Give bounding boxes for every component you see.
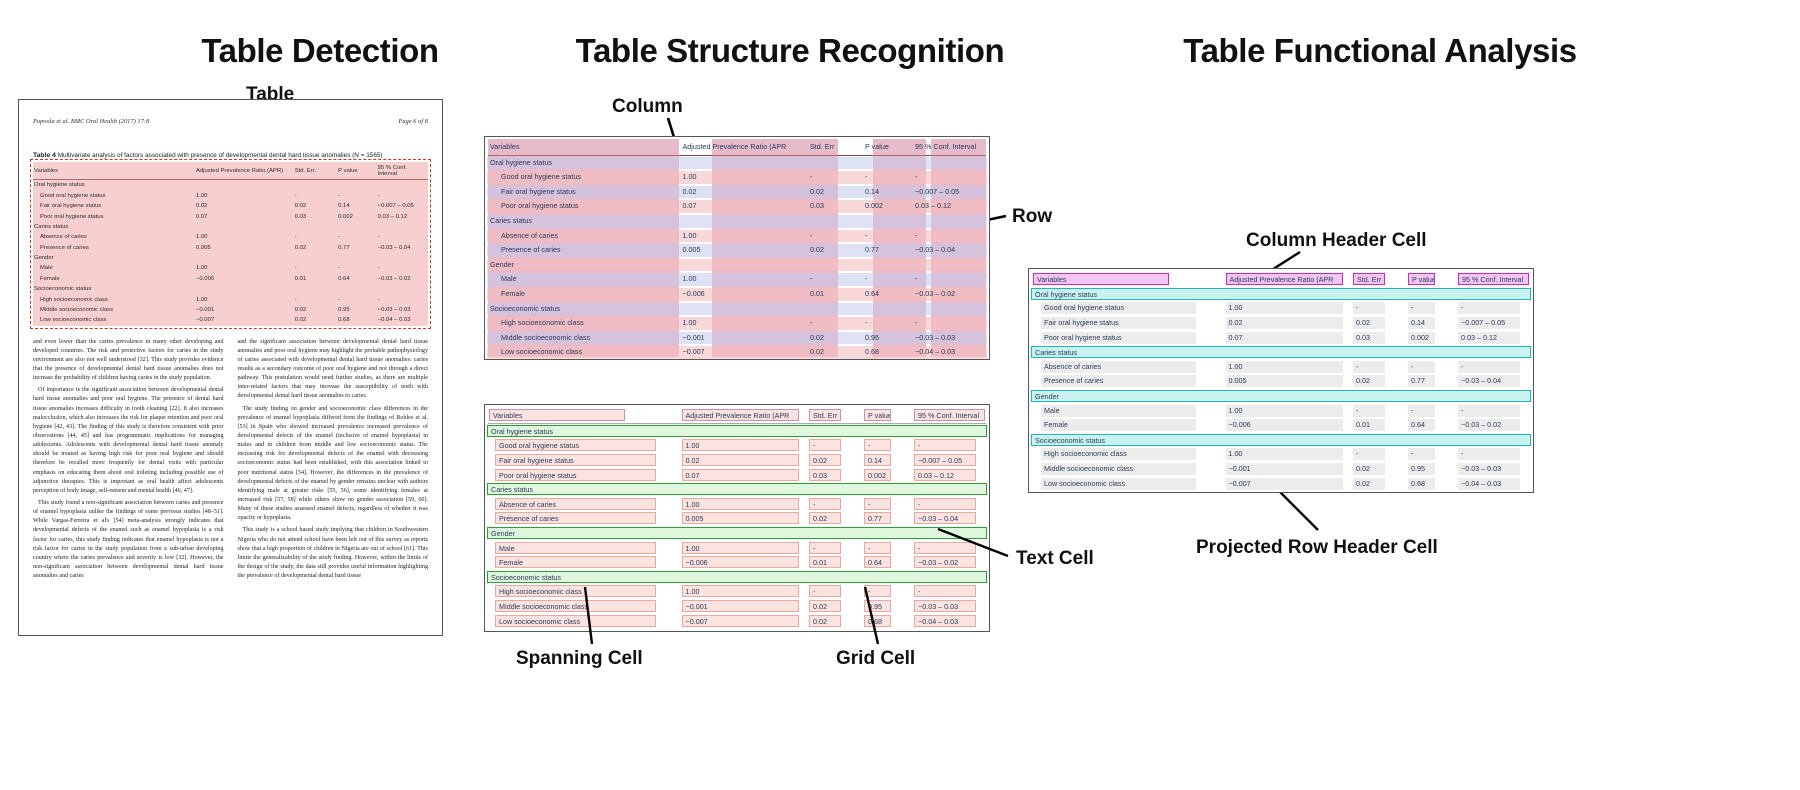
- table-cell: −0.007: [195, 315, 294, 325]
- grid-cell-wrap: 0.68: [862, 615, 912, 627]
- table-section-row: Caries status: [487, 482, 987, 497]
- column-header-cell-wrap: Std. Err: [1351, 273, 1406, 285]
- table-cell: −0.03 – 0.02: [912, 287, 987, 302]
- grid-cell-wrap: Middle socioeconomic class: [487, 600, 680, 612]
- table-cell: -: [1408, 361, 1435, 373]
- paragraph: Of importance is the significant associa…: [33, 386, 224, 496]
- table-row: Presence of caries0.0050.020.77−0.03 – 0…: [487, 243, 987, 258]
- table-cell-wrap: 0.02: [1351, 317, 1406, 329]
- row-header-cell: Male: [487, 272, 680, 287]
- column-header-cell: 95 % Conf. Interval: [914, 409, 985, 421]
- table-cell: 0.03 – 0.12: [1458, 332, 1520, 344]
- table-row: Low socioeconomic class−0.0070.020.68−0.…: [487, 613, 987, 628]
- table-row: Good oral hygiene status1.00---: [1031, 301, 1531, 316]
- grid-cell: 0.07: [682, 469, 799, 481]
- grid-cell: 1.00: [682, 439, 799, 451]
- table-cell: -: [1408, 448, 1435, 460]
- grid-cell-wrap: 0.02: [680, 454, 808, 466]
- column-header-cell: P value: [1408, 273, 1435, 285]
- table-cell: −0.03 – 0.02: [377, 274, 428, 284]
- table-section-row: Socioeconomic status: [487, 302, 987, 317]
- table-cell: 0.005: [195, 243, 294, 253]
- table-cell-wrap: −0.03 – 0.02: [1456, 419, 1531, 431]
- column-header-cell-wrap: 95 % Conf. Interval: [1456, 273, 1531, 285]
- grid-cell: -: [914, 542, 976, 554]
- text-cell: Low socioeconomic class: [495, 615, 656, 627]
- row-header-cell: Absence of caries: [33, 232, 195, 242]
- table-cell: -: [862, 272, 912, 287]
- grid-cell-wrap: −0.04 – 0.03: [912, 615, 987, 627]
- projected-row-header-cell: Oral hygiene status: [1031, 288, 1531, 300]
- grid-cell: −0.04 – 0.03: [914, 615, 976, 627]
- grid-cell-wrap: 0.02: [807, 454, 862, 466]
- callout-projected-row-header-cell: Projected Row Header Cell: [1196, 537, 1438, 559]
- running-head-right: Page 6 of 8: [399, 118, 428, 125]
- table-cell: 0.02: [195, 201, 294, 211]
- column-header-cell: Variables: [489, 409, 625, 421]
- grid-cell-wrap: -: [912, 542, 987, 554]
- table-cell: -: [807, 316, 862, 331]
- row-header-cell: Presence of caries: [33, 243, 195, 253]
- column-header-cell: Std. Err: [807, 140, 862, 155]
- table-cell: [337, 253, 377, 263]
- row-header-cell: Oral hygiene status: [33, 180, 195, 191]
- grid-cell: -: [914, 585, 976, 597]
- table-cell-wrap: -: [1456, 302, 1531, 314]
- row-header-cell-wrap: Good oral hygiene status: [1031, 302, 1224, 314]
- table-cell: −0.001: [680, 331, 808, 346]
- table-cell: −0.006: [195, 274, 294, 284]
- table-cell: 0.02: [807, 331, 862, 346]
- row-header-cell: Gender: [487, 258, 680, 273]
- column-header-cell: P value: [862, 140, 912, 155]
- table-cell: −0.03 – 0.04: [377, 243, 428, 253]
- row-header-cell: Presence of caries: [1041, 375, 1196, 387]
- table-cell-wrap: 0.68: [1406, 478, 1456, 490]
- grid-cell-wrap: −0.03 – 0.03: [912, 600, 987, 612]
- table-cell-wrap: 0.64: [1406, 419, 1456, 431]
- row-header-cell-wrap: Middle socioeconomic class: [1031, 463, 1224, 475]
- grid-cell: 0.005: [682, 512, 799, 524]
- table-row: Fair oral hygiene status0.020.020.14−0.0…: [487, 185, 987, 200]
- table-cell-wrap: -: [1406, 448, 1456, 460]
- table-cell: -: [337, 294, 377, 304]
- table-cell: 0.95: [862, 331, 912, 346]
- table-cell: −0.03 – 0.04: [1458, 375, 1520, 387]
- paper-body-right-column: and the significant association between …: [238, 338, 429, 585]
- grid-cell: −0.007: [682, 615, 799, 627]
- table-cell: 1.00: [195, 191, 294, 201]
- table-cell: -: [294, 294, 337, 304]
- grid-cell-wrap: -: [912, 498, 987, 510]
- grid-cell: 0.03: [809, 469, 841, 481]
- table-cell-wrap: 0.02: [1351, 463, 1406, 475]
- row-header-cell: Fair oral hygiene status: [487, 185, 680, 200]
- table-cell: −0.007 – 0.05: [912, 185, 987, 200]
- table-row: Good oral hygiene status1.00---: [487, 170, 987, 185]
- table-cell: 0.02: [807, 345, 862, 360]
- table-cell: 0.14: [337, 201, 377, 211]
- text-cell: Presence of caries: [495, 512, 656, 524]
- grid-cell-wrap: 0.005: [680, 512, 808, 524]
- table-cell: 0.02: [294, 305, 337, 315]
- table-cell: 0.77: [1408, 375, 1435, 387]
- grid-cell: -: [864, 498, 891, 510]
- table-cell: [337, 222, 377, 232]
- table-cell: [377, 253, 428, 263]
- table-row: Female−0.0060.010.64−0.03 – 0.02: [33, 274, 428, 284]
- table-cell: 0.02: [294, 315, 337, 325]
- table-cell: −0.007 – 0.05: [1458, 317, 1520, 329]
- row-header-cell: Absence of caries: [487, 229, 680, 244]
- table-cell: 0.02: [1353, 463, 1385, 475]
- grid-cell: 1.00: [682, 542, 799, 554]
- column-header-cell: 95 % Conf. Interval: [377, 162, 428, 179]
- table-row: High socioeconomic class1.00---: [487, 584, 987, 599]
- column-header-cell-wrap: Adjusted Prevalence Ratio (APR: [1224, 273, 1352, 285]
- table-row: High socioeconomic class1.00---: [33, 294, 428, 304]
- grid-cell: -: [914, 498, 976, 510]
- table-row: Male1.00---: [487, 272, 987, 287]
- table-cell: −0.007: [1226, 478, 1343, 490]
- table-row: Poor oral hygiene status0.070.030.0020.0…: [487, 467, 987, 482]
- table-row: Poor oral hygiene status0.070.030.0020.0…: [33, 211, 428, 221]
- table-cell: -: [862, 170, 912, 185]
- grid-cell: -: [809, 542, 841, 554]
- table-cell-wrap: −0.04 – 0.03: [1456, 478, 1531, 490]
- table-cell: −0.03 – 0.03: [1458, 463, 1520, 475]
- table-cell: 0.07: [195, 211, 294, 221]
- table-cell: −0.001: [195, 305, 294, 315]
- grid-cell-wrap: 0.03: [807, 469, 862, 481]
- table-cell: 0.77: [862, 243, 912, 258]
- table-cell: -: [1408, 302, 1435, 314]
- grid-cell-wrap: Fair oral hygiene status: [487, 454, 680, 466]
- table-row: High socioeconomic class1.00---: [487, 316, 987, 331]
- table-row: Presence of caries0.0050.020.77−0.03 – 0…: [1031, 374, 1531, 389]
- table-section-row: Socioeconomic status: [1031, 433, 1531, 448]
- paragraph: and the significant association between …: [238, 338, 429, 402]
- grid-cell: −0.001: [682, 600, 799, 612]
- grid-cell-wrap: -: [862, 439, 912, 451]
- column-header-cell-wrap: P value: [1406, 273, 1456, 285]
- grid-cell-wrap: Female: [487, 556, 680, 568]
- grid-cell: -: [809, 585, 841, 597]
- row-header-cell-wrap: Low socioeconomic class: [1031, 478, 1224, 490]
- table-row: Good oral hygiene status1.00---: [33, 191, 428, 201]
- table-header-row: VariablesAdjusted Prevalence Ratio (APRS…: [487, 140, 987, 155]
- spanning-cell: Oral hygiene status: [487, 425, 987, 437]
- table-cell: 1.00: [195, 232, 294, 242]
- table-cell: 1.00: [680, 170, 808, 185]
- paper-body: and even lower than the caries prevalenc…: [33, 338, 428, 585]
- text-cell: Fair oral hygiene status: [495, 454, 656, 466]
- table-cell: 0.01: [294, 274, 337, 284]
- table-cell: -: [912, 316, 987, 331]
- table-cell: [337, 284, 377, 294]
- table-cell: -: [912, 229, 987, 244]
- table-row: Absence of caries1.00---: [1031, 360, 1531, 375]
- grid-cell-wrap: -: [807, 542, 862, 554]
- row-header-cell: Female: [1041, 419, 1196, 431]
- grid-cell-wrap: 0.002: [862, 469, 912, 481]
- grid-cell: −0.03 – 0.04: [914, 512, 976, 524]
- column-header-cell: Std. Err.: [294, 162, 337, 179]
- column-header-cell-wrap: P value: [862, 409, 912, 421]
- grid-cell-wrap: Absence of caries: [487, 498, 680, 510]
- table-cell: [195, 284, 294, 294]
- table-section-row: Socioeconomic status: [33, 284, 428, 294]
- table-caption: Table 4 Multivariate analysis of factors…: [33, 152, 428, 160]
- grid-cell-wrap: 0.95: [862, 600, 912, 612]
- grid-cell-wrap: 0.03 – 0.12: [912, 469, 987, 481]
- column-header-cell: Variables: [1033, 273, 1169, 285]
- row-header-cell: Male: [1041, 405, 1196, 417]
- projected-row-header-cell: Caries status: [1031, 346, 1531, 358]
- running-head-left: Popoola et al. BMC Oral Health (2017) 17…: [33, 118, 149, 125]
- paragraph: and even lower than the caries prevalenc…: [33, 338, 224, 384]
- table-cell: -: [807, 170, 862, 185]
- table-cell: 0.68: [337, 315, 377, 325]
- table-row: Female−0.0060.010.64−0.03 – 0.02: [1031, 418, 1531, 433]
- grid-cell-wrap: 1.00: [680, 542, 808, 554]
- table-cell-wrap: 0.77: [1406, 375, 1456, 387]
- table-cell-wrap: 0.02: [1351, 375, 1406, 387]
- grid-cell-wrap: -: [912, 439, 987, 451]
- table-cell: 1.00: [680, 272, 808, 287]
- row-header-cell: Oral hygiene status: [487, 156, 680, 171]
- grid-cell-wrap: -: [862, 585, 912, 597]
- table-cell: -: [1458, 302, 1520, 314]
- table-cell: -: [294, 232, 337, 242]
- grid-cell: 0.02: [809, 600, 841, 612]
- table-section-row: Socioeconomic status: [487, 570, 987, 585]
- table-row: Middle socioeconomic class−0.0010.020.95…: [33, 305, 428, 315]
- row-header-cell: Socioeconomic status: [33, 284, 195, 294]
- grid-cell: 0.95: [864, 600, 891, 612]
- panel-title-table-functional-analysis: Table Functional Analysis: [1060, 32, 1700, 70]
- table-cell: −0.03 – 0.02: [1458, 419, 1520, 431]
- table-cell: -: [337, 191, 377, 201]
- table-cell-wrap: -: [1351, 448, 1406, 460]
- table-row: Male1.00---: [33, 263, 428, 273]
- row-header-cell: Gender: [33, 253, 195, 263]
- text-cell: Good oral hygiene status: [495, 439, 656, 451]
- table-header-row: VariablesAdjusted Prevalence Ratio (APRS…: [487, 408, 987, 423]
- table-caption-label: Table 4: [33, 152, 56, 159]
- table-cell: −0.04 – 0.03: [1458, 478, 1520, 490]
- table-row: Low socioeconomic class−0.0070.020.68−0.…: [1031, 476, 1531, 491]
- table-row: Fair oral hygiene status0.020.020.14−0.0…: [1031, 316, 1531, 331]
- grid-cell-wrap: 0.01: [807, 556, 862, 568]
- table-row: Middle socioeconomic class−0.0010.020.95…: [487, 599, 987, 614]
- column-header-cell: 95 % Conf. Interval: [912, 140, 987, 155]
- table-cell: 0.002: [862, 199, 912, 214]
- table-cell: 0.64: [337, 274, 377, 284]
- table-row: Poor oral hygiene status0.070.030.0020.0…: [1031, 330, 1531, 345]
- table-cell-wrap: −0.001: [1224, 463, 1352, 475]
- table-cell: [195, 180, 294, 191]
- table-row: Female−0.0060.010.64−0.03 – 0.02: [487, 555, 987, 570]
- text-cell: Poor oral hygiene status: [495, 469, 656, 481]
- table-section-row: Caries status: [487, 214, 987, 229]
- grid-cell: 0.02: [682, 454, 799, 466]
- table-cell-wrap: 0.03 – 0.12: [1456, 332, 1531, 344]
- table-cell: 1.00: [195, 294, 294, 304]
- table-row: Absence of caries1.00---: [33, 232, 428, 242]
- text-cell: Male: [495, 542, 656, 554]
- grid-cell: -: [809, 498, 841, 510]
- row-header-cell: Low socioeconomic class: [1041, 478, 1196, 490]
- grid-cell: -: [864, 542, 891, 554]
- table-cell-wrap: 0.02: [1224, 317, 1352, 329]
- table-cell: [195, 222, 294, 232]
- grid-cell-wrap: -: [807, 585, 862, 597]
- column-header-cell: Adjusted Prevalence Ratio (APR: [680, 140, 808, 155]
- table-cell: 0.005: [680, 243, 808, 258]
- row-header-cell: Female: [487, 287, 680, 302]
- table-cell-wrap: 0.005: [1224, 375, 1352, 387]
- table-cell: 1.00: [1226, 361, 1343, 373]
- table-cell: −0.04 – 0.03: [377, 315, 428, 325]
- grid-cell: 0.02: [809, 615, 841, 627]
- row-header-cell: Caries status: [487, 214, 680, 229]
- grid-cell-wrap: High socioeconomic class: [487, 585, 680, 597]
- grid-cell: -: [914, 439, 976, 451]
- paragraph: This study is a school based study imply…: [238, 526, 429, 581]
- grid-cell: 0.01: [809, 556, 841, 568]
- spanning-cell: Socioeconomic status: [487, 571, 987, 583]
- table-row: Female−0.0060.010.64−0.03 – 0.02: [487, 287, 987, 302]
- table-cell: 0.03: [807, 199, 862, 214]
- grid-cell: 0.02: [809, 512, 841, 524]
- grid-cell: 0.64: [864, 556, 891, 568]
- table-cell: 0.68: [1408, 478, 1435, 490]
- table-cell: −0.007 – 0.05: [377, 201, 428, 211]
- table-cell-wrap: 0.002: [1406, 332, 1456, 344]
- column-header-cell: Variables: [487, 140, 680, 155]
- row-header-cell: Low socioeconomic class: [487, 345, 680, 360]
- table-cell-wrap: 0.14: [1406, 317, 1456, 329]
- table-cell: 0.07: [1226, 332, 1343, 344]
- column-header-cell-wrap: Adjusted Prevalence Ratio (APR: [680, 409, 808, 421]
- grid-cell-wrap: −0.007: [680, 615, 808, 627]
- grid-cell-wrap: -: [912, 585, 987, 597]
- grid-cell: 1.00: [682, 585, 799, 597]
- table-cell: −0.04 – 0.03: [912, 345, 987, 360]
- grid-cell-wrap: Presence of caries: [487, 512, 680, 524]
- table-cell-wrap: -: [1351, 302, 1406, 314]
- table-cell: -: [337, 232, 377, 242]
- table-cell-wrap: −0.007: [1224, 478, 1352, 490]
- table-cell: -: [294, 263, 337, 273]
- row-header-cell: Good oral hygiene status: [487, 170, 680, 185]
- table-cell: 0.95: [1408, 463, 1435, 475]
- table-cell: 1.00: [1226, 405, 1343, 417]
- detected-table-region: VariablesAdjusted Prevalence Ratio (APR)…: [33, 162, 428, 325]
- grid-cell: 0.68: [864, 615, 891, 627]
- table-cell: -: [1458, 361, 1520, 373]
- callout-grid-cell: Grid Cell: [836, 648, 915, 670]
- column-header-cell-wrap: Variables: [487, 409, 680, 421]
- table-section-row: Gender: [487, 258, 987, 273]
- row-header-cell: Poor oral hygiene status: [33, 211, 195, 221]
- grid-cell: 0.03 – 0.12: [914, 469, 976, 481]
- running-head: Popoola et al. BMC Oral Health (2017) 17…: [33, 118, 428, 125]
- table-section-row: Oral hygiene status: [1031, 287, 1531, 302]
- table-cell: -: [1458, 448, 1520, 460]
- structure-recognition-table-cells: VariablesAdjusted Prevalence Ratio (APRS…: [484, 404, 990, 632]
- column-header-cell: Adjusted Prevalence Ratio (APR: [682, 409, 799, 421]
- paper-page: Popoola et al. BMC Oral Health (2017) 17…: [18, 99, 443, 636]
- table-cell: 0.14: [862, 185, 912, 200]
- table-cell: −0.03 – 0.03: [377, 305, 428, 315]
- grid-cell: 0.77: [864, 512, 891, 524]
- table-cell-wrap: -: [1351, 361, 1406, 373]
- panel-title-table-detection: Table Detection: [80, 32, 560, 70]
- row-header-cell: Absence of caries: [1041, 361, 1196, 373]
- table-section-row: Caries status: [1031, 345, 1531, 360]
- column-header-cell: 95 % Conf. Interval: [1458, 273, 1529, 285]
- grid-cell-wrap: 1.00: [680, 585, 808, 597]
- table-cell-wrap: -: [1351, 405, 1406, 417]
- grid-cell: 0.14: [864, 454, 891, 466]
- row-header-cell-wrap: Poor oral hygiene status: [1031, 332, 1224, 344]
- table-cell-wrap: 0.01: [1351, 419, 1406, 431]
- row-header-cell-wrap: Fair oral hygiene status: [1031, 317, 1224, 329]
- table-cell: 0.03 – 0.12: [912, 199, 987, 214]
- table-row: Fair oral hygiene status0.020.020.14−0.0…: [33, 201, 428, 211]
- table-cell: 0.02: [1353, 317, 1385, 329]
- table-cell: 0.02: [807, 243, 862, 258]
- table-cell: [294, 284, 337, 294]
- table-cell: [294, 180, 337, 191]
- row-header-cell-wrap: Male: [1031, 405, 1224, 417]
- table-cell: 0.02: [294, 201, 337, 211]
- paper-table: VariablesAdjusted Prevalence Ratio (APR)…: [33, 162, 428, 325]
- table-cell-wrap: -: [1406, 405, 1456, 417]
- column-header-cell: Adjusted Prevalence Ratio (APR: [1226, 273, 1343, 285]
- table-cell: -: [337, 263, 377, 273]
- table-row: High socioeconomic class1.00---: [1031, 447, 1531, 462]
- text-cell: Middle socioeconomic class: [495, 600, 656, 612]
- table-row: Good oral hygiene status1.00---: [487, 438, 987, 453]
- row-header-cell: Good oral hygiene status: [1041, 302, 1196, 314]
- table-row: Low socioeconomic class−0.0070.020.68−0.…: [487, 345, 987, 360]
- table-cell-wrap: −0.007 – 0.05: [1456, 317, 1531, 329]
- grid-cell-wrap: 0.64: [862, 556, 912, 568]
- projected-row-header-cell: Gender: [1031, 390, 1531, 402]
- table-cell: 0.005: [1226, 375, 1343, 387]
- row-header-cell: Poor oral hygiene status: [1041, 332, 1196, 344]
- table-cell: -: [377, 294, 428, 304]
- column-header-cell: Adjusted Prevalence Ratio (APR): [195, 162, 294, 179]
- table-cell: [294, 253, 337, 263]
- table-row: Fair oral hygiene status0.020.020.14−0.0…: [487, 453, 987, 468]
- grid-cell: 0.002: [864, 469, 891, 481]
- table-cell: [294, 222, 337, 232]
- table-cell: 1.00: [680, 316, 808, 331]
- table-row: Poor oral hygiene status0.070.030.0020.0…: [487, 199, 987, 214]
- row-header-cell: High socioeconomic class: [1041, 448, 1196, 460]
- table-row: Presence of caries0.0050.020.77−0.03 – 0…: [487, 511, 987, 526]
- grid-cell-wrap: −0.007 – 0.05: [912, 454, 987, 466]
- table-row: Male1.00---: [1031, 403, 1531, 418]
- table-cell: -: [862, 316, 912, 331]
- column-header-cell: Std. Err: [1353, 273, 1385, 285]
- table-cell-wrap: -: [1406, 302, 1456, 314]
- column-header-cell: Variables: [33, 162, 195, 179]
